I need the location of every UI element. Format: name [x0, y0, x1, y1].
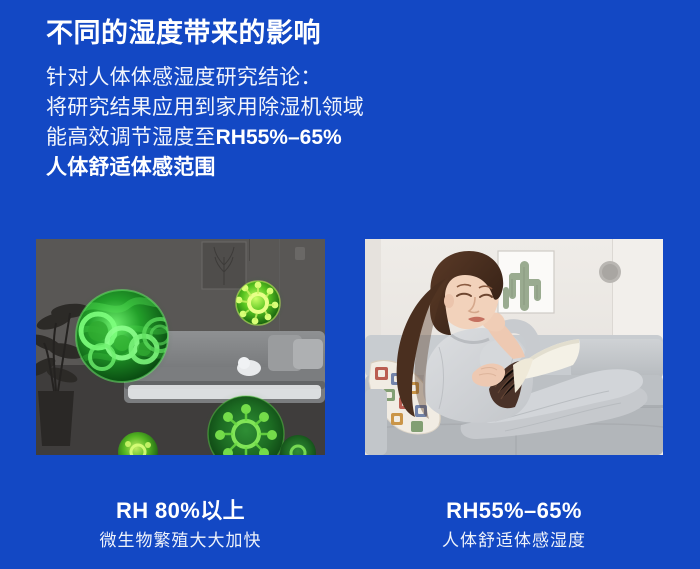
- subtitle-line-3: 能高效调节湿度至RH55%–65%: [46, 123, 666, 153]
- page-title: 不同的湿度带来的影响: [46, 16, 666, 50]
- subtitle-line-3-emphasis: RH55%–65%: [216, 126, 342, 149]
- caption-comfort-humidity: RH55%–65% 人体舒适体感湿度: [365, 497, 663, 552]
- subtitle-line-3-prefix: 能高效调节湿度至: [46, 126, 216, 149]
- subtitle-block: 针对人体体感湿度研究结论： 将研究结果应用到家用除湿机领域 能高效调节湿度至RH…: [46, 63, 666, 183]
- panel-image-high-humidity: [36, 239, 325, 455]
- headline-block: 不同的湿度带来的影响 针对人体体感湿度研究结论： 将研究结果应用到家用除湿机领域…: [46, 16, 666, 183]
- caption-title-high-humidity: RH 80%以上: [36, 497, 325, 525]
- subtitle-line-1: 针对人体体感湿度研究结论：: [46, 63, 666, 93]
- panel-image-comfort-humidity: [365, 239, 663, 455]
- promo-page: 不同的湿度带来的影响 针对人体体感湿度研究结论： 将研究结果应用到家用除湿机领域…: [0, 0, 700, 569]
- subtitle-line-4: 人体舒适体感范围: [46, 153, 666, 183]
- caption-sub-comfort-humidity: 人体舒适体感湿度: [365, 530, 663, 552]
- caption-sub-high-humidity: 微生物繁殖大大加快: [36, 530, 325, 552]
- caption-title-comfort-humidity: RH55%–65%: [365, 497, 663, 525]
- subtitle-line-2: 将研究结果应用到家用除湿机领域: [46, 93, 666, 123]
- caption-high-humidity: RH 80%以上 微生物繁殖大大加快: [36, 497, 325, 552]
